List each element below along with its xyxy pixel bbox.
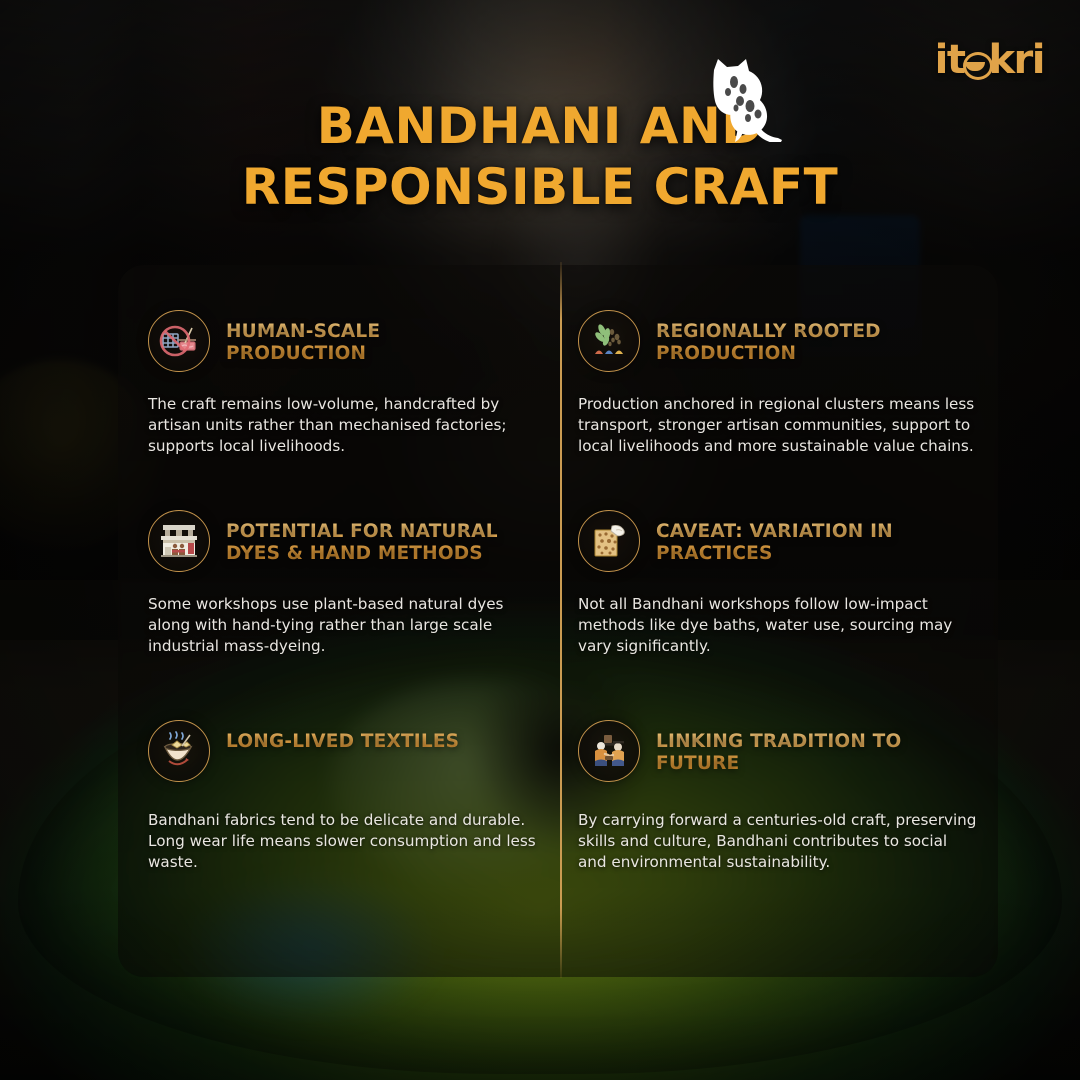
card-human-scale-production: HUMAN-SCALE PRODUCTION The craft remains… [148,310,548,457]
title-line-2: RESPONSIBLE CRAFT [0,157,1080,218]
card-caveat-variation-in-practices: CAVEAT: VARIATION IN PRACTICES Not all B… [578,510,978,657]
steaming-dye-pot-icon [148,720,210,782]
card-title: LONG-LIVED TEXTILES [226,720,459,753]
cards-grid: HUMAN-SCALE PRODUCTION The craft remains… [118,265,998,977]
brand-logo-text: it [935,37,965,83]
card-header: REGIONALLY ROOTED PRODUCTION [578,310,978,372]
card-title: POTENTIAL FOR NATURAL DYES & HAND METHOD… [226,510,526,564]
card-linking-tradition-to-future: LINKING TRADITION TO FUTURE By carrying … [578,720,978,873]
card-title: CAVEAT: VARIATION IN PRACTICES [656,510,956,564]
card-header: CAVEAT: VARIATION IN PRACTICES [578,510,978,572]
no-factory-machine-icon [148,310,210,372]
card-header: POTENTIAL FOR NATURAL DYES & HAND METHOD… [148,510,548,572]
card-title: REGIONALLY ROOTED PRODUCTION [656,310,956,364]
card-title: LINKING TRADITION TO FUTURE [656,720,956,774]
brand-logo[interactable]: itkri [935,40,1044,80]
infographic-poster: itkri BANDHANI AND RESPONSIBLE CRAFT [0,0,1080,1080]
card-natural-dyes-hand-methods: POTENTIAL FOR NATURAL DYES & HAND METHOD… [148,510,548,657]
basket-icon [963,50,989,76]
card-body: Bandhani fabrics tend to be delicate and… [148,810,540,873]
card-regionally-rooted-production: REGIONALLY ROOTED PRODUCTION Production … [578,310,978,457]
two-artisans-working-icon [578,720,640,782]
page-title: BANDHANI AND RESPONSIBLE CRAFT [0,96,1080,218]
brand-logo-text-end: kri [988,37,1044,83]
card-long-lived-textiles: LONG-LIVED TEXTILES Bandhani fabrics ten… [148,720,548,873]
card-header: LINKING TRADITION TO FUTURE [578,720,978,782]
artisan-workshop-building-icon [148,510,210,572]
title-line-1: BANDHANI AND [0,96,1080,157]
card-body: The craft remains low-volume, handcrafte… [148,394,540,457]
card-body: By carrying forward a centuries-old craf… [578,810,978,873]
card-header: HUMAN-SCALE PRODUCTION [148,310,548,372]
card-title: HUMAN-SCALE PRODUCTION [226,310,526,364]
card-body: Not all Bandhani workshops follow low-im… [578,594,978,657]
leaves-and-natural-pigments-icon [578,310,640,372]
card-header: LONG-LIVED TEXTILES [148,720,548,782]
card-body: Production anchored in regional clusters… [578,394,978,457]
hand-holding-patterned-fabric-icon [578,510,640,572]
card-body: Some workshops use plant-based natural d… [148,594,540,657]
